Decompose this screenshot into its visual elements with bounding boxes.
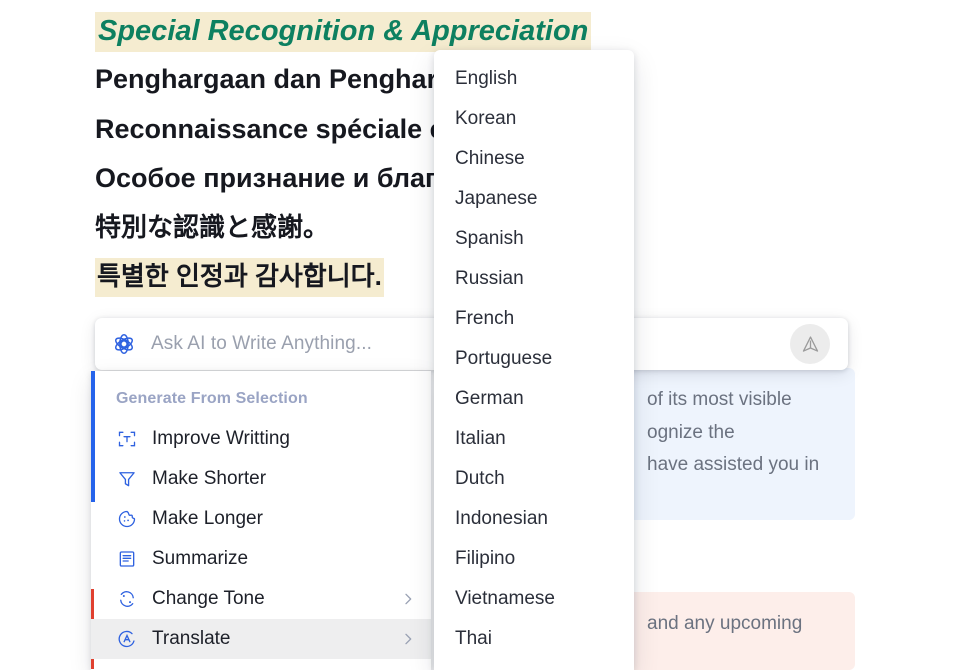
- menu-section-title: Generate From Selection: [116, 390, 308, 408]
- pink-callout-line-1: and any upcoming: [647, 608, 837, 641]
- language-option-filipino[interactable]: Filipino: [434, 539, 634, 579]
- chevron-right-icon: [399, 590, 417, 608]
- language-option-korean[interactable]: Korean: [434, 99, 634, 139]
- menu-item-label: Make Longer: [152, 508, 417, 530]
- blue-callout-line-1: of its most visible: [647, 384, 837, 417]
- ai-action-menu: Generate From Selection Improve Writting…: [91, 371, 431, 670]
- language-submenu: English Korean Chinese Japanese Spanish …: [434, 50, 634, 670]
- blue-callout-line-2: ognize the: [647, 417, 837, 450]
- menu-item-label: Make Shorter: [152, 468, 417, 490]
- expand-circle-icon: [116, 508, 138, 530]
- translate-icon: [116, 628, 138, 650]
- menu-item-label: Change Tone: [152, 588, 399, 610]
- document-line-korean: 특별한 인정과 감사합니다.: [95, 258, 384, 297]
- language-option-vietnamese[interactable]: Vietnamese: [434, 579, 634, 619]
- blue-callout-line-3: have assisted you in: [647, 449, 837, 482]
- send-plane-icon[interactable]: [790, 324, 830, 364]
- language-option-italian[interactable]: Italian: [434, 419, 634, 459]
- chevron-right-icon: [399, 630, 417, 648]
- ai-action-menu-list: Improve Writting Make Shorter Make Longe…: [91, 419, 431, 659]
- menu-item-improve-writing[interactable]: Improve Writting: [91, 419, 431, 459]
- language-option-chinese[interactable]: Chinese: [434, 139, 634, 179]
- menu-item-label: Improve Writting: [152, 428, 417, 450]
- language-option-thai[interactable]: Thai: [434, 619, 634, 659]
- chevron-right-icon: [399, 550, 417, 568]
- improve-writing-icon: [116, 428, 138, 450]
- document-heading: Special Recognition & Appreciation: [95, 12, 591, 52]
- language-option-spanish[interactable]: Spanish: [434, 219, 634, 259]
- menu-item-summarize[interactable]: Summarize: [91, 539, 431, 579]
- document-line-japanese: 特別な認識と感謝。: [95, 212, 329, 243]
- menu-item-label: Translate: [152, 628, 399, 650]
- menu-item-label: Summarize: [152, 548, 399, 570]
- language-option-german[interactable]: German: [434, 379, 634, 419]
- language-option-russian[interactable]: Russian: [434, 259, 634, 299]
- change-tone-icon: [116, 588, 138, 610]
- language-option-indonesian[interactable]: Indonesian: [434, 499, 634, 539]
- language-option-japanese[interactable]: Japanese: [434, 179, 634, 219]
- summarize-list-icon: [116, 548, 138, 570]
- ai-sparkle-icon: [111, 331, 137, 357]
- language-option-portuguese[interactable]: Portuguese: [434, 339, 634, 379]
- menu-item-make-shorter[interactable]: Make Shorter: [91, 459, 431, 499]
- menu-item-translate[interactable]: Translate: [91, 619, 431, 659]
- funnel-icon: [116, 468, 138, 490]
- menu-item-make-longer[interactable]: Make Longer: [91, 499, 431, 539]
- language-option-dutch[interactable]: Dutch: [434, 459, 634, 499]
- language-option-english[interactable]: English: [434, 59, 634, 99]
- language-option-french[interactable]: French: [434, 299, 634, 339]
- menu-item-change-tone[interactable]: Change Tone: [91, 579, 431, 619]
